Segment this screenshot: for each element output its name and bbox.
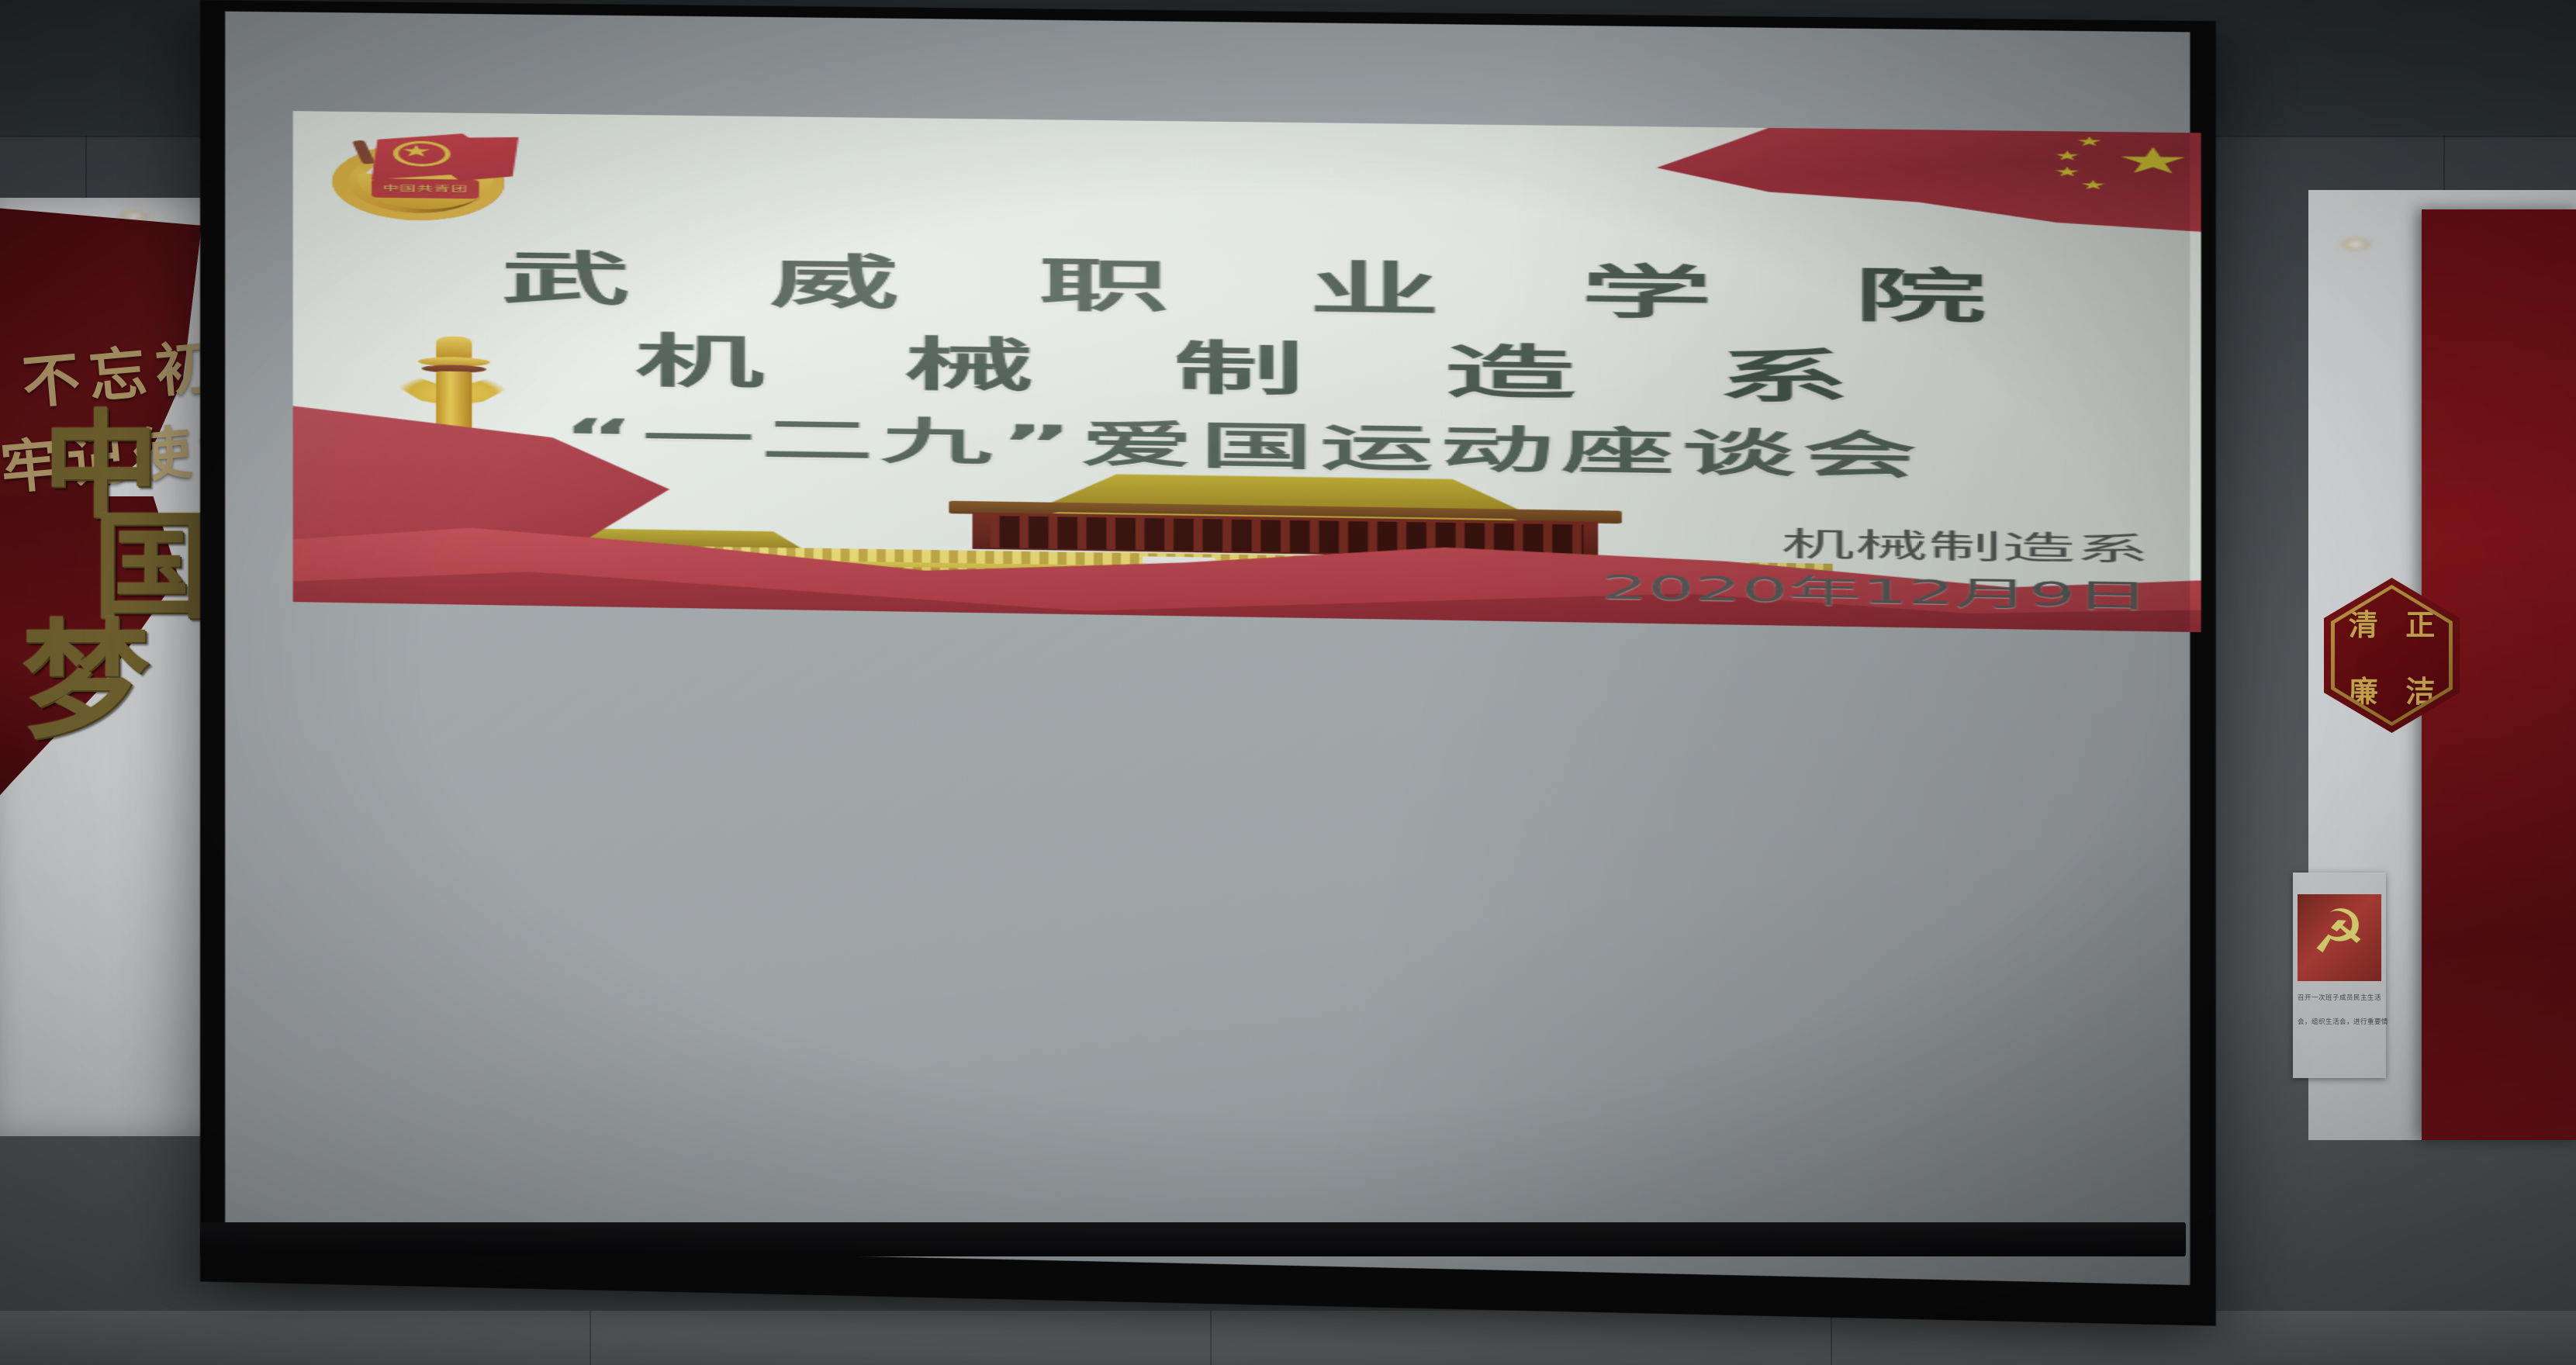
floor-tile-line-2 xyxy=(1210,1311,1212,1365)
communist-youth-league-emblem: 中国共青团 xyxy=(329,129,533,225)
slide-byline: 机械制造系 2020年12月9日 xyxy=(1602,519,2149,620)
hex-char-zheng: 正 xyxy=(2405,601,2435,644)
right-wall-spotlight-1 xyxy=(2338,237,2374,252)
poster-image: ☭ xyxy=(2298,894,2381,981)
flag-stars-group xyxy=(2028,136,2197,183)
floor-tile-line-1 xyxy=(590,1311,591,1365)
emblem-flag-star-circle xyxy=(393,140,451,167)
party-emblem-poster: ☭ 召开一次班子成员民主生活 会，组织生活会，进行重要情 xyxy=(2293,873,2386,1078)
floor-tile-line-3 xyxy=(1831,1311,1832,1365)
huabiao-lion-statue xyxy=(436,337,472,359)
byline-department: 机械制造系 xyxy=(1602,519,2149,574)
poster-text-line-2: 会，组织生活会，进行重要情 xyxy=(2298,1017,2388,1026)
hammer-and-sickle-icon: ☭ xyxy=(2311,905,2366,967)
flag-star-small-1 xyxy=(2077,136,2101,147)
projection-room-photo: 不忘初心 牢记使命 中 国 梦 清 正 廉 洁 ☭ 召开一次班子成员民主生活 会… xyxy=(0,0,2576,1365)
hex-char-lian: 廉 xyxy=(2349,668,2378,710)
projector-screen-bottom-bar xyxy=(200,1222,2186,1256)
hexagon-plaque-gold-border: 清 正 廉 洁 xyxy=(2331,585,2453,726)
emblem-flag-star xyxy=(402,145,430,158)
hex-char-jie: 洁 xyxy=(2405,668,2435,710)
hexagon-plaque-characters: 清 正 廉 洁 xyxy=(2335,589,2449,722)
byline-date: 2020年12月9日 xyxy=(1602,565,2149,620)
gold-character-meng: 梦 xyxy=(22,578,150,763)
poster-text-line-1: 召开一次班子成员民主生活 xyxy=(2298,993,2381,1002)
flag-star-large xyxy=(2120,147,2187,176)
flag-star-small-4 xyxy=(2081,180,2105,191)
projector-screen-surface: 中国共青团 武 威 职 业 学 院 机 械 制 造 系 “一二九”爱国运动座谈会 xyxy=(225,12,2190,1285)
presentation-slide: 中国共青团 武 威 职 业 学 院 机 械 制 造 系 “一二九”爱国运动座谈会 xyxy=(293,111,2201,632)
chinese-national-flag xyxy=(1594,121,2201,233)
projector-screen-frame: 中国共青团 武 威 职 业 学 院 机 械 制 造 系 “一二九”爱国运动座谈会 xyxy=(200,0,2216,1326)
hex-char-qing: 清 xyxy=(2349,601,2378,644)
hexagon-plaque-face: 清 正 廉 洁 xyxy=(2335,589,2449,722)
flag-star-small-2 xyxy=(2056,150,2080,161)
emblem-inscription: 中国共青团 xyxy=(372,179,479,199)
flag-star-small-3 xyxy=(2056,167,2080,178)
